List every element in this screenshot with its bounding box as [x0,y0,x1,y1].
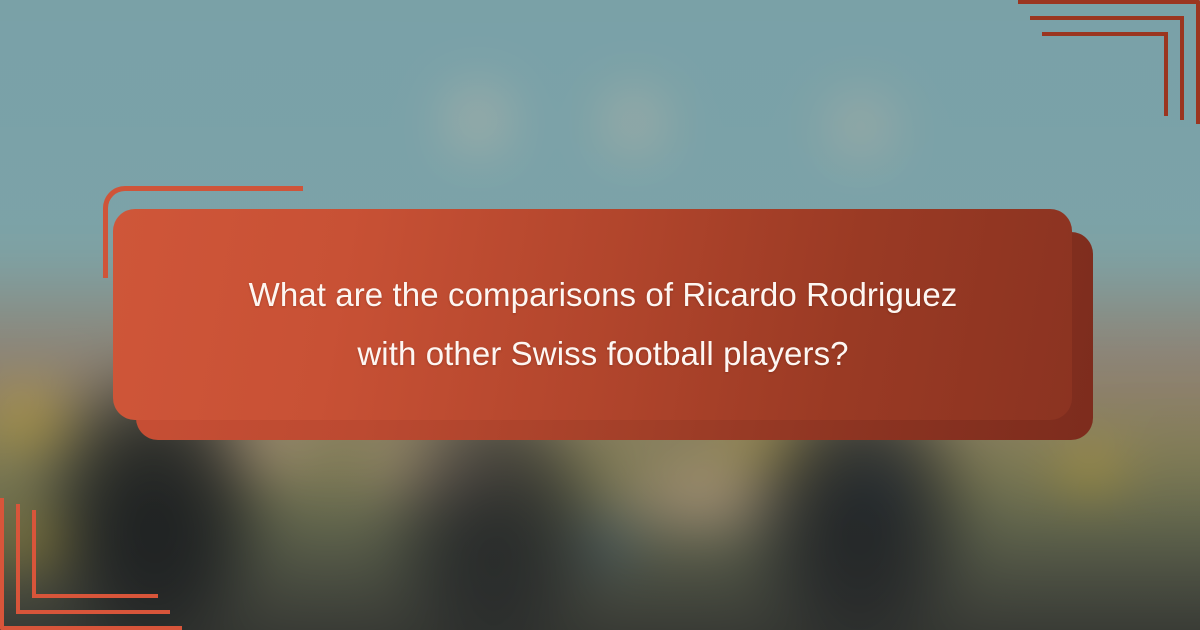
share-card-canvas: What are the comparisons of Ricardo Rodr… [0,0,1200,630]
page-title: What are the comparisons of Ricardo Rodr… [243,266,963,383]
headline-card-content: What are the comparisons of Ricardo Rodr… [113,209,1093,440]
